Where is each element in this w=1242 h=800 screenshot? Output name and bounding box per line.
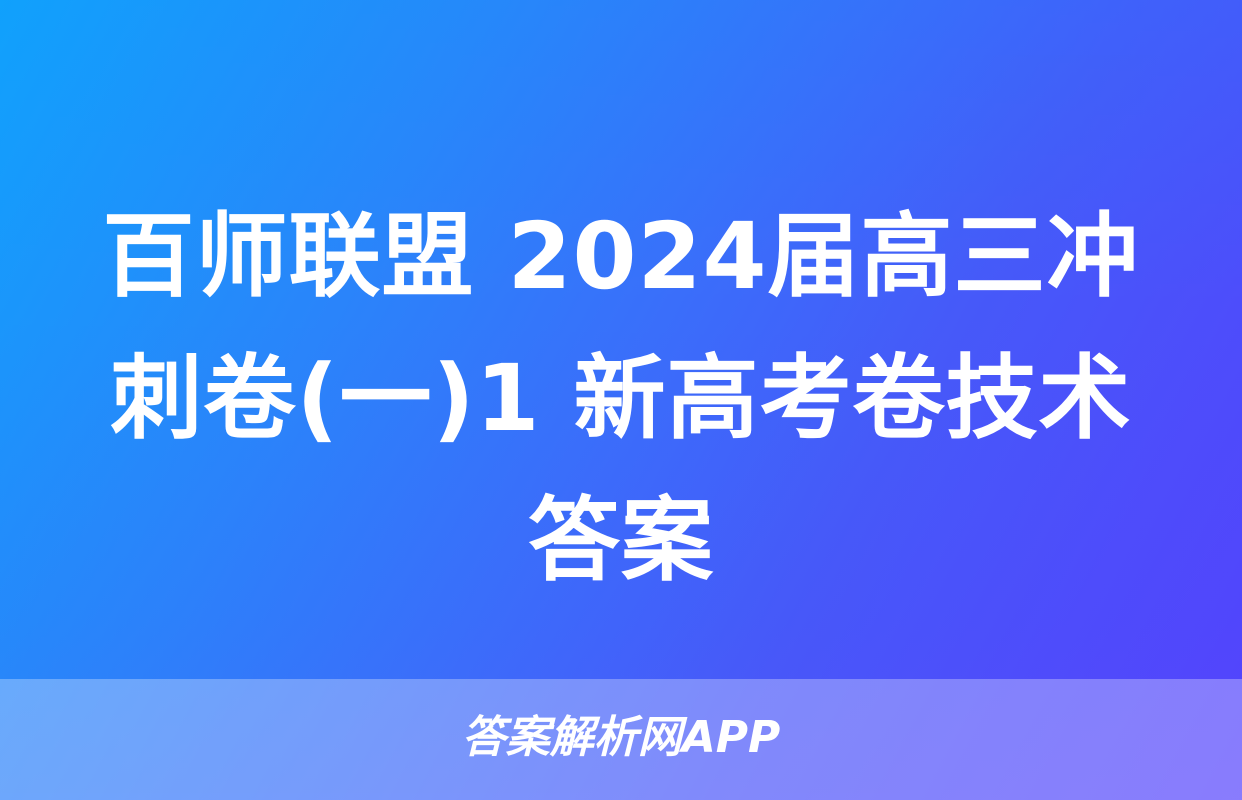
poster-canvas: 百师联盟 2024届高三冲 刺卷(一)1 新高考卷技术 答案 答案解析网APP: [0, 0, 1242, 800]
app-watermark-label: 答案解析网APP: [462, 713, 781, 763]
title-line-3: 答案: [28, 470, 1214, 612]
title-line-2: 刺卷(一)1 新高考卷技术: [28, 328, 1214, 470]
title-line-1: 百师联盟 2024届高三冲: [28, 186, 1214, 328]
footer-watermark-band: 答案解析网APP: [0, 679, 1242, 800]
page-title: 百师联盟 2024届高三冲 刺卷(一)1 新高考卷技术 答案: [0, 186, 1242, 612]
